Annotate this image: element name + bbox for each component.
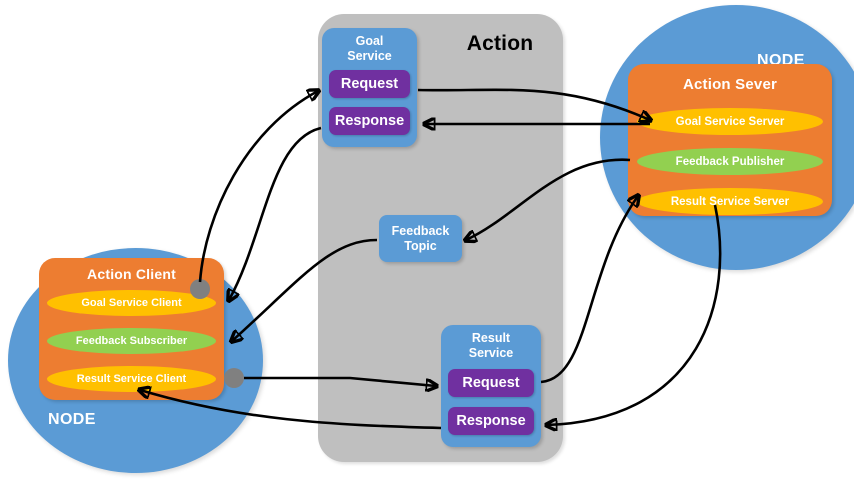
goal-service-request-label: Request [341,76,398,92]
result-service-title: Result Service [441,331,541,361]
feedback-topic-box[interactable]: Feedback Topic [379,215,462,262]
goal-service-response[interactable]: Response [329,107,410,135]
goal-service-server-label: Goal Service Server [676,116,785,128]
goal-service-request[interactable]: Request [329,70,410,98]
result-service-request-label: Request [462,375,519,391]
result-service-title-line2: Service [469,346,513,360]
goal-service-title-line1: Goal [356,34,384,48]
action-server-box: Action Sever Goal Service Server Feedbac… [628,64,832,216]
arrow-goalclient-to-goalrequest [200,91,318,282]
goal-service-response-label: Response [335,113,404,129]
goal-service-client-label: Goal Service Client [81,297,181,309]
goal-service-server-pill[interactable]: Goal Service Server [637,108,823,135]
feedback-subscriber-pill[interactable]: Feedback Subscriber [47,328,216,354]
client-node-label: NODE [48,411,96,429]
feedback-topic-line1: Feedback [392,224,450,239]
goal-service-title-line2: Service [347,49,391,63]
result-service-server-pill[interactable]: Result Service Server [637,188,823,215]
result-service-response[interactable]: Response [448,407,534,435]
feedback-topic-line2: Topic [404,239,436,254]
result-service-server-label: Result Service Server [671,196,789,208]
result-connector-dot [224,368,244,388]
feedback-publisher-pill[interactable]: Feedback Publisher [637,148,823,175]
result-service-client-pill[interactable]: Result Service Client [47,366,216,392]
action-server-title: Action Sever [628,76,832,93]
result-service-box: Result Service Request Response [441,325,541,447]
diagram-canvas: Action NODE Action Client Goal Service C… [0,0,854,480]
result-service-response-label: Response [456,413,525,429]
feedback-publisher-label: Feedback Publisher [676,156,785,168]
goal-service-title: Goal Service [322,34,417,64]
goal-connector-dot [190,279,210,299]
feedback-subscriber-label: Feedback Subscriber [76,335,187,347]
result-service-client-label: Result Service Client [77,373,186,385]
action-container-label: Action [430,32,570,56]
result-service-title-line1: Result [472,331,510,345]
goal-service-box: Goal Service Request Response [322,28,417,147]
result-service-request[interactable]: Request [448,369,534,397]
arrow-goalresponse-to-goalclient [229,128,321,300]
